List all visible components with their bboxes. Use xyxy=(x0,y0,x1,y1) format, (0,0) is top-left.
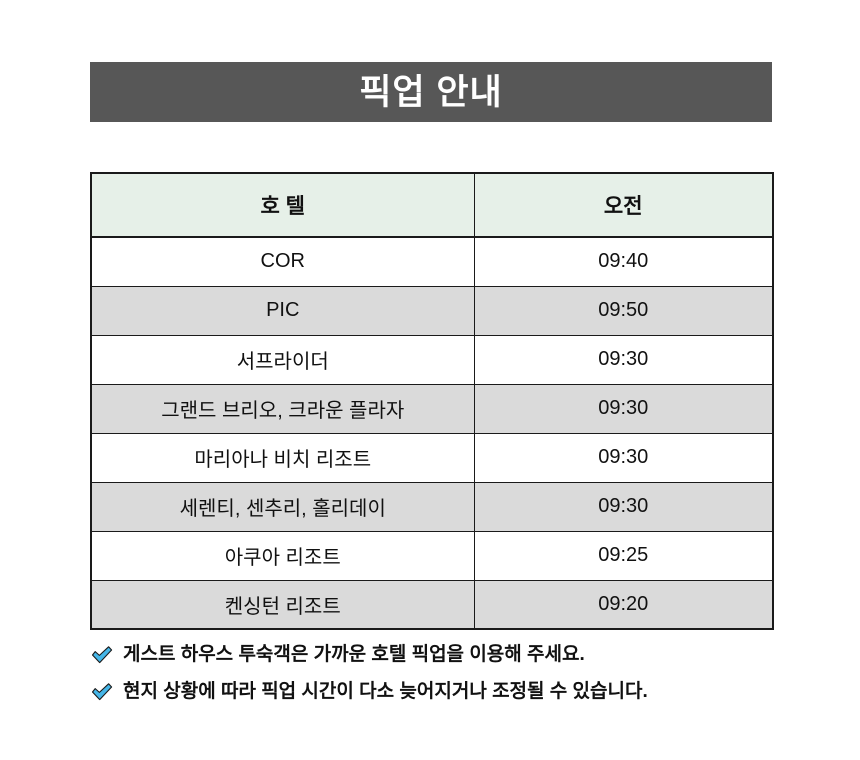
check-icon xyxy=(90,645,114,665)
table-header-row: 호 텔 오전 xyxy=(91,173,773,237)
list-item: 게스트 하우스 투숙객은 가까운 호텔 픽업을 이용해 주세요. xyxy=(90,644,790,667)
table-row: PIC 09:50 xyxy=(91,286,773,335)
cell-hotel: COR xyxy=(91,237,474,286)
pickup-schedule-table: 호 텔 오전 COR 09:40 PIC 09:50 서프라이더 09:30 그… xyxy=(90,172,774,630)
cell-hotel: 아쿠아 리조트 xyxy=(91,531,474,580)
list-item: 현지 상황에 따라 픽업 시간이 다소 늦어지거나 조정될 수 있습니다. xyxy=(90,681,790,704)
cell-time: 09:30 xyxy=(474,482,773,531)
table-row: 서프라이더 09:30 xyxy=(91,335,773,384)
cell-time: 09:25 xyxy=(474,531,773,580)
cell-hotel: 세렌티, 센추리, 홀리데이 xyxy=(91,482,474,531)
page-title: 픽업 안내 xyxy=(359,75,503,110)
cell-hotel: 서프라이더 xyxy=(91,335,474,384)
note-text: 현지 상황에 따라 픽업 시간이 다소 늦어지거나 조정될 수 있습니다. xyxy=(123,681,648,704)
table-header: 호 텔 오전 xyxy=(91,173,773,237)
cell-time: 09:40 xyxy=(474,237,773,286)
check-icon xyxy=(90,682,114,702)
table-body: COR 09:40 PIC 09:50 서프라이더 09:30 그랜드 브리오,… xyxy=(91,237,773,629)
cell-hotel: 그랜드 브리오, 크라운 플라자 xyxy=(91,384,474,433)
cell-hotel: 마리아나 비치 리조트 xyxy=(91,433,474,482)
cell-time: 09:30 xyxy=(474,335,773,384)
table-row: COR 09:40 xyxy=(91,237,773,286)
pickup-notice-page: 픽업 안내 호 텔 오전 COR 09:40 PIC 09:50 서프라이더 xyxy=(0,0,860,760)
cell-hotel: PIC xyxy=(91,286,474,335)
cell-hotel: 켄싱턴 리조트 xyxy=(91,580,474,629)
note-text: 게스트 하우스 투숙객은 가까운 호텔 픽업을 이용해 주세요. xyxy=(123,644,585,667)
cell-time: 09:50 xyxy=(474,286,773,335)
column-header-hotel: 호 텔 xyxy=(91,173,474,237)
column-header-time: 오전 xyxy=(474,173,773,237)
table-row: 아쿠아 리조트 09:25 xyxy=(91,531,773,580)
notes-list: 게스트 하우스 투숙객은 가까운 호텔 픽업을 이용해 주세요. 현지 상황에 … xyxy=(90,644,790,718)
cell-time: 09:30 xyxy=(474,433,773,482)
table-row: 켄싱턴 리조트 09:20 xyxy=(91,580,773,629)
cell-time: 09:30 xyxy=(474,384,773,433)
page-title-banner: 픽업 안내 xyxy=(90,62,772,122)
cell-time: 09:20 xyxy=(474,580,773,629)
table-row: 그랜드 브리오, 크라운 플라자 09:30 xyxy=(91,384,773,433)
table-row: 세렌티, 센추리, 홀리데이 09:30 xyxy=(91,482,773,531)
table-row: 마리아나 비치 리조트 09:30 xyxy=(91,433,773,482)
